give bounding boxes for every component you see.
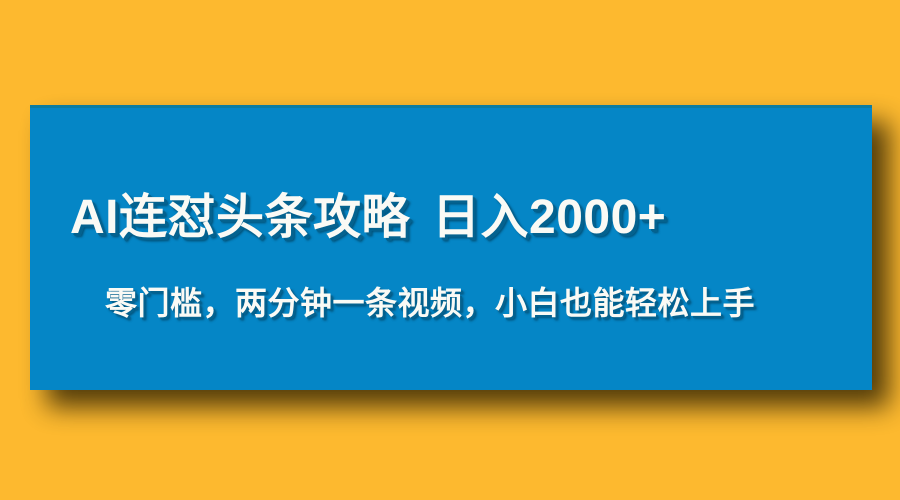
headline-segment-right: 日入2000+ <box>432 191 666 244</box>
poster-subheadline: 零门槛，两分钟一条视频，小白也能轻松上手 <box>105 286 845 321</box>
headline-segment-left: AI连怼头条攻略 <box>70 191 410 244</box>
blue-content-card: AI连怼头条攻略日入2000+ 零门槛，两分钟一条视频，小白也能轻松上手 <box>30 105 872 390</box>
poster-headline: AI连怼头条攻略日入2000+ <box>70 194 840 242</box>
poster-canvas: AI连怼头条攻略日入2000+ 零门槛，两分钟一条视频，小白也能轻松上手 <box>0 0 900 500</box>
poster-text-block: AI连怼头条攻略日入2000+ 零门槛，两分钟一条视频，小白也能轻松上手 <box>30 108 872 393</box>
